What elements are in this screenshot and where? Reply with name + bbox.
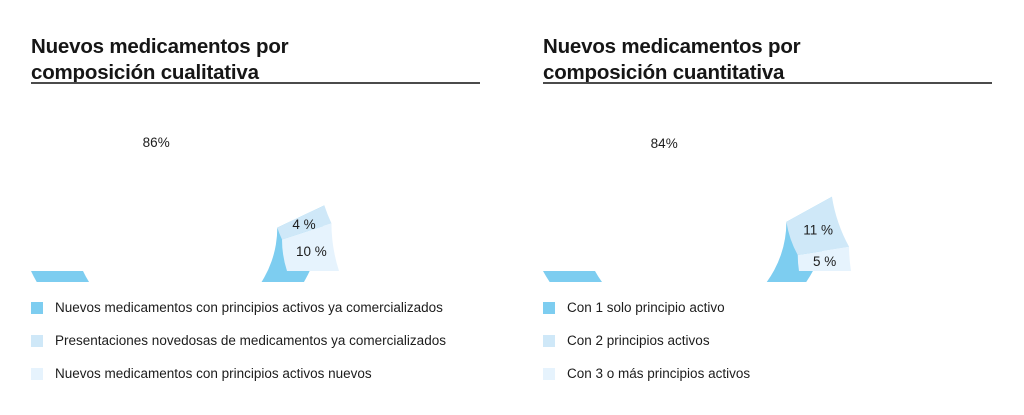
infographic-page: Nuevos medicamentos por composición cual… bbox=[0, 0, 1024, 415]
list-item[interactable]: Con 1 solo principio activo bbox=[543, 300, 1003, 333]
donut-svg-cuantitativa: 84% 11 % 5 % bbox=[543, 96, 993, 282]
donut-svg-cualitativa: 86% 4 % 10 % bbox=[31, 96, 481, 282]
donut-slices-group bbox=[543, 197, 851, 282]
legend-swatch-icon bbox=[31, 335, 43, 347]
slice-label-0: 86% bbox=[143, 135, 170, 150]
legend-swatch-icon bbox=[543, 302, 555, 314]
page-title: Nuevos medicamentos por composición cuan… bbox=[543, 34, 973, 86]
chart-panel-cuantitativa: Nuevos medicamentos por composición cuan… bbox=[512, 0, 1024, 415]
list-item[interactable]: Nuevos medicamentos con principios activ… bbox=[31, 366, 491, 399]
slice-label-2: 10 % bbox=[296, 244, 327, 259]
half-donut-chart-cuantitativa: 84% 11 % 5 % bbox=[543, 96, 993, 282]
chart-legend-cuantitativa: Con 1 solo principio activo Con 2 princi… bbox=[543, 300, 1003, 399]
donut-slice-0[interactable] bbox=[543, 197, 832, 282]
legend-swatch-icon bbox=[31, 368, 43, 380]
legend-swatch-icon bbox=[31, 302, 43, 314]
title-divider bbox=[543, 82, 992, 84]
legend-item-label: Con 2 principios activos bbox=[567, 333, 710, 348]
legend-item-label: Con 1 solo principio activo bbox=[567, 300, 725, 315]
list-item[interactable]: Nuevos medicamentos con principios activ… bbox=[31, 300, 491, 333]
list-item[interactable]: Con 2 principios activos bbox=[543, 333, 1003, 366]
chart-panel-cualitativa: Nuevos medicamentos por composición cual… bbox=[0, 0, 512, 415]
list-item[interactable]: Presentaciones novedosas de medicamentos… bbox=[31, 333, 491, 366]
title-divider bbox=[31, 82, 480, 84]
slice-label-2: 5 % bbox=[813, 254, 836, 269]
slice-label-1: 4 % bbox=[292, 217, 315, 232]
half-donut-chart-cualitativa: 86% 4 % 10 % bbox=[31, 96, 481, 282]
slice-label-1: 11 % bbox=[803, 223, 833, 238]
legend-item-label: Con 3 o más principios activos bbox=[567, 366, 750, 381]
legend-item-label: Nuevos medicamentos con principios activ… bbox=[55, 300, 443, 315]
legend-item-label: Nuevos medicamentos con principios activ… bbox=[55, 366, 372, 381]
legend-item-label: Presentaciones novedosas de medicamentos… bbox=[55, 333, 446, 348]
page-title: Nuevos medicamentos por composición cual… bbox=[31, 34, 461, 86]
donut-slice-0[interactable] bbox=[31, 205, 324, 282]
legend-swatch-icon bbox=[543, 335, 555, 347]
chart-legend-cualitativa: Nuevos medicamentos con principios activ… bbox=[31, 300, 491, 399]
list-item[interactable]: Con 3 o más principios activos bbox=[543, 366, 1003, 399]
slice-label-0: 84% bbox=[651, 136, 678, 151]
legend-swatch-icon bbox=[543, 368, 555, 380]
